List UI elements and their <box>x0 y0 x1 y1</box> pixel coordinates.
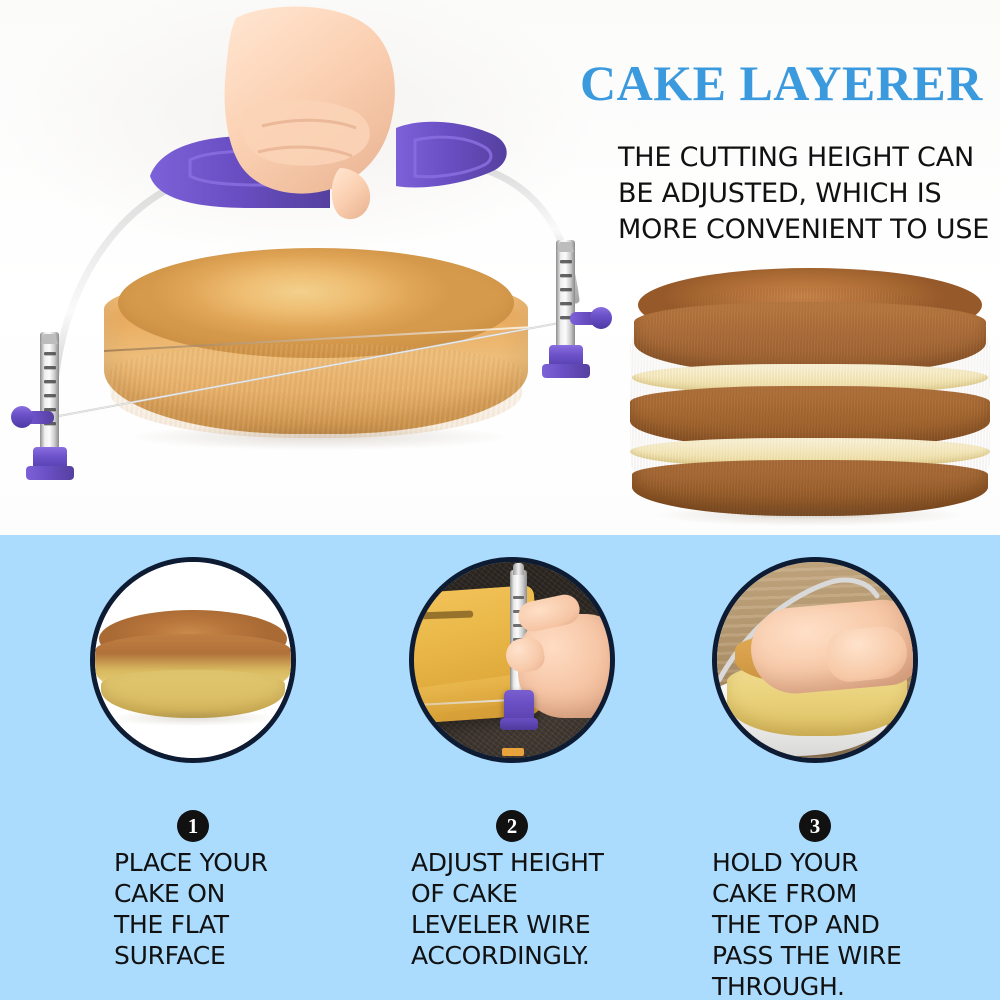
step-2-text: ADJUST HEIGHT OF CAKE LEVELER WIRE ACCOR… <box>411 847 651 971</box>
step-1-line-4: SURFACE <box>114 940 354 971</box>
page-title: CAKE LAYERER <box>580 56 990 110</box>
step-3-line-3: THE TOP AND <box>712 909 952 940</box>
step-2-number-badge: 2 <box>496 810 528 842</box>
page-subtitle: THE CUTTING HEIGHT CAN BE ADJUSTED, WHIC… <box>618 140 998 248</box>
cake-texture-overlay <box>630 288 990 518</box>
cake-cut-line <box>409 611 473 621</box>
step-1-line-1: PLACE YOUR <box>114 847 354 878</box>
cake-shadow <box>656 504 964 526</box>
step-3-number-badge: 3 <box>799 810 831 842</box>
cake-shadow <box>132 424 504 450</box>
subtitle-line-1: THE CUTTING HEIGHT CAN <box>618 140 998 176</box>
background-chip <box>502 748 524 756</box>
step-1: 1 PLACE YOUR CAKE ON THE FLAT SURFACE <box>38 535 348 1000</box>
cake-shadow <box>111 710 275 726</box>
step-1-line-3: THE FLAT <box>114 909 354 940</box>
step-3-line-5: THROUGH. <box>712 971 952 1000</box>
step-3-line-4: PASS THE WIRE <box>712 940 952 971</box>
step-1-image <box>90 557 296 763</box>
step-3-line-2: CAKE FROM <box>712 878 952 909</box>
step-3: 3 HOLD YOUR CAKE FROM THE TOP AND PASS T… <box>660 535 970 1000</box>
step-1-line-2: CAKE ON <box>114 878 354 909</box>
step-3-image <box>712 557 918 763</box>
cake-top-surface <box>118 248 514 358</box>
step-3-text: HOLD YOUR CAKE FROM THE TOP AND PASS THE… <box>712 847 952 1000</box>
leveler-rod-tip <box>513 563 524 575</box>
step-2-line-2: OF CAKE <box>411 878 651 909</box>
step-1-text: PLACE YOUR CAKE ON THE FLAT SURFACE <box>114 847 354 971</box>
step-1-number-badge: 1 <box>177 810 209 842</box>
step-2-image <box>409 557 615 763</box>
step-3-line-1: HOLD YOUR <box>712 847 952 878</box>
instruction-steps-section: 1 PLACE YOUR CAKE ON THE FLAT SURFACE <box>0 535 1000 1000</box>
subtitle-line-2: BE ADJUSTED, WHICH IS <box>618 176 998 212</box>
step-2-line-4: ACCORDINGLY. <box>411 940 651 971</box>
step-2-line-1: ADJUST HEIGHT <box>411 847 651 878</box>
three-layer-cake-image <box>630 268 990 510</box>
step-2: 2 ADJUST HEIGHT OF CAKE LEVELER WIRE ACC… <box>357 535 667 1000</box>
product-infographic: CAKE LAYERER THE CUTTING HEIGHT CAN BE A… <box>0 0 1000 1000</box>
hero-section: CAKE LAYERER THE CUTTING HEIGHT CAN BE A… <box>0 0 1000 535</box>
rod-notch <box>513 596 524 599</box>
subtitle-line-3: MORE CONVENIENT TO USE <box>618 212 998 248</box>
purple-clamp-foot <box>500 718 538 730</box>
step-2-line-3: LEVELER WIRE <box>411 909 651 940</box>
